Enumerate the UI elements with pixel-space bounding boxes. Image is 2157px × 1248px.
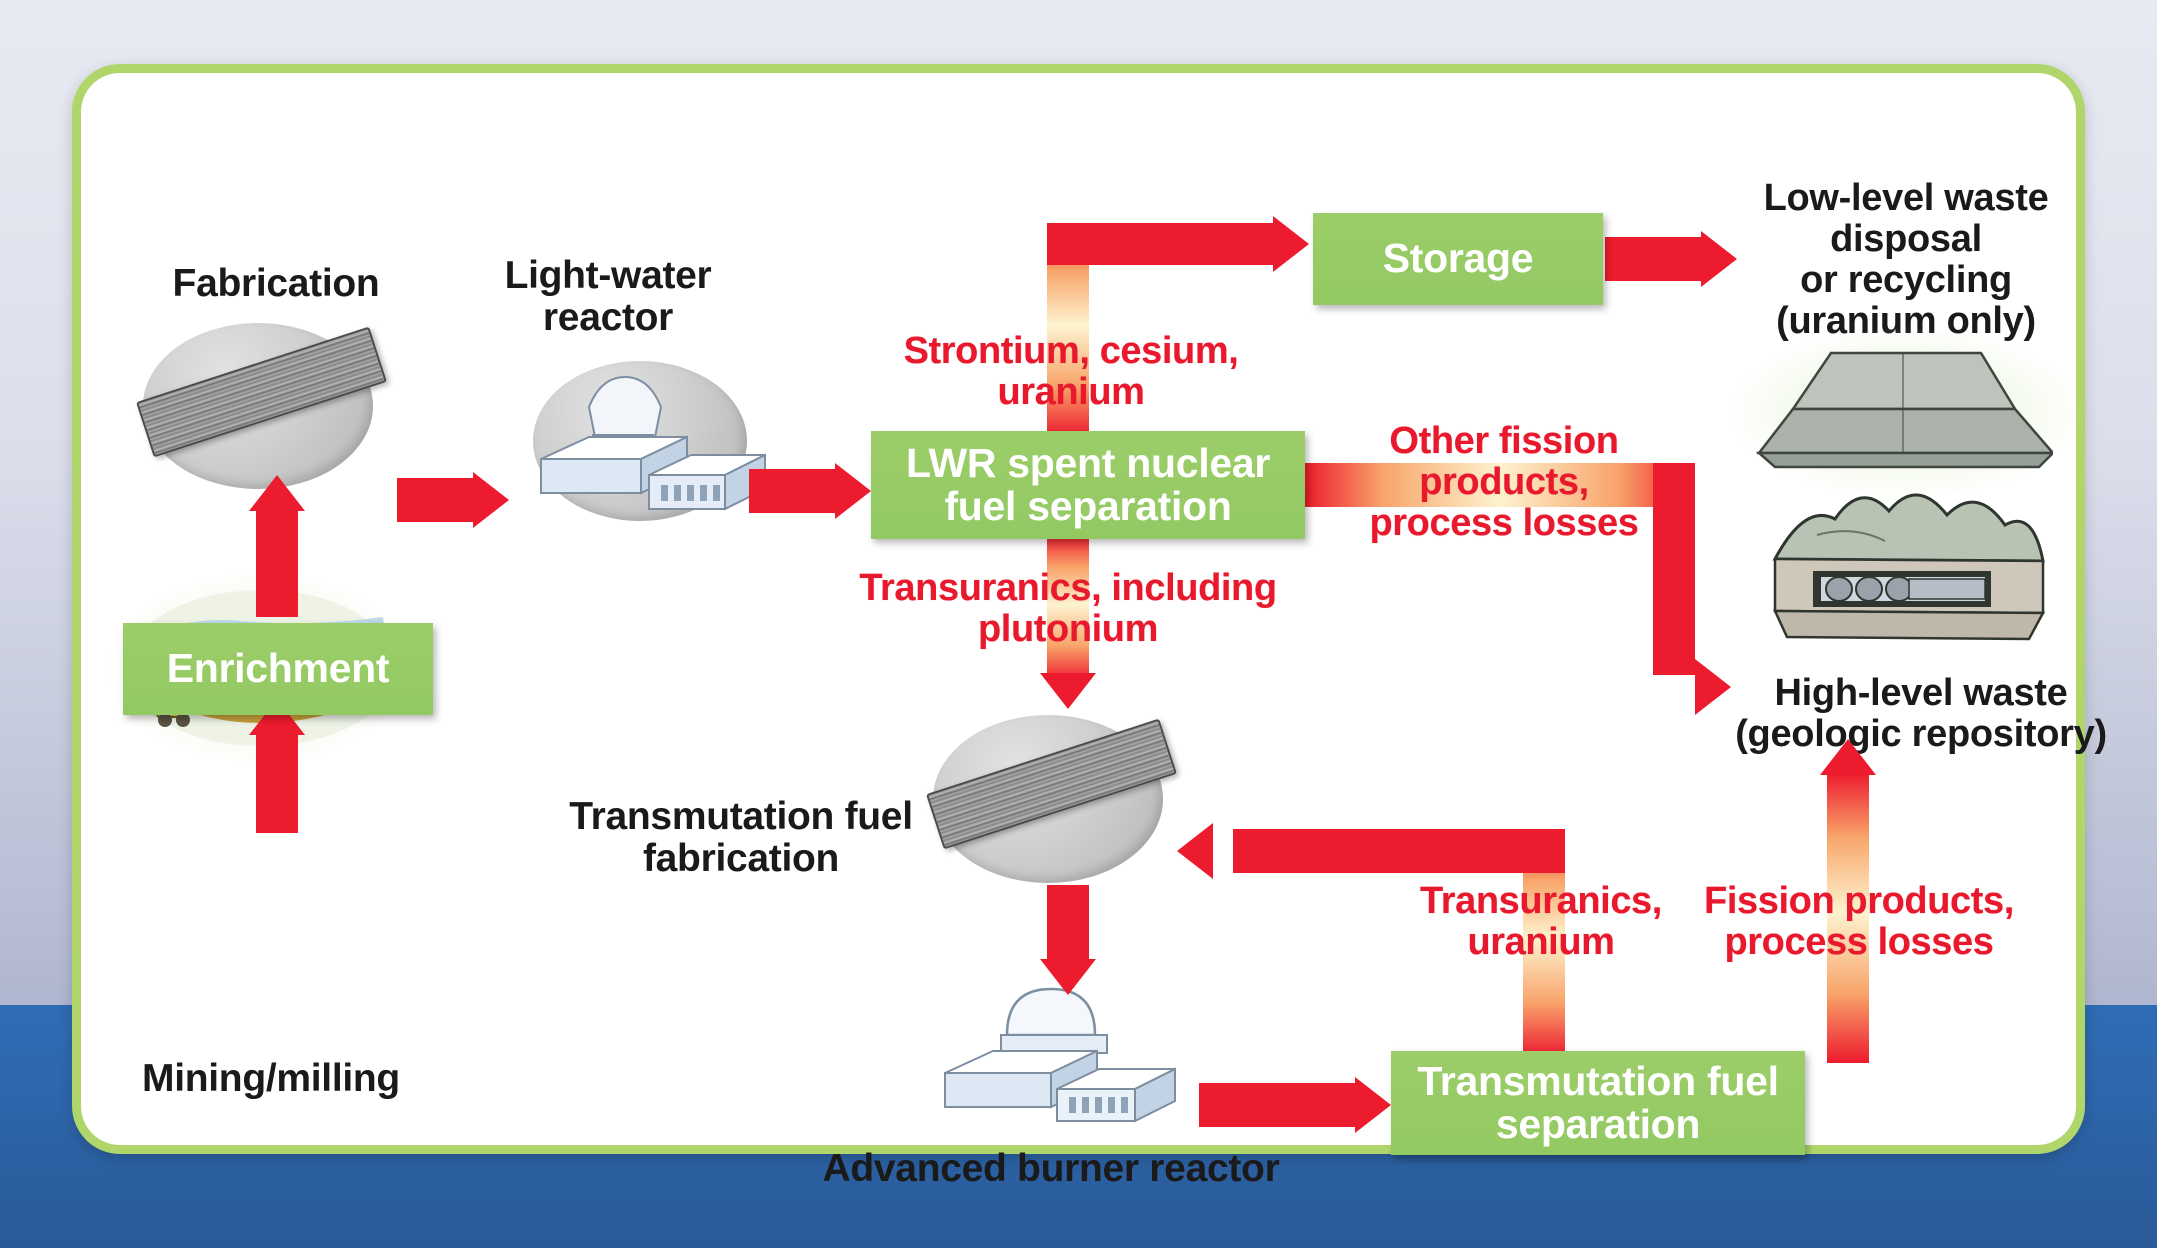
box-lwr-separation[interactable]: LWR spent nuclear fuel separation	[871, 431, 1305, 539]
arrow-burner-to-transmutation-separation-shaft	[1199, 1083, 1359, 1127]
advanced-burner-reactor-illustration	[931, 973, 1211, 1133]
high-level-waste-repository-illustration	[1757, 463, 2057, 653]
arrow-separation-to-storage-head	[1273, 216, 1309, 272]
arrow-storage-to-llw-shaft	[1605, 237, 1705, 281]
arrow-enrichment-to-fabrication-shaft	[256, 509, 298, 617]
arrow-fabrication-to-lwr-head	[473, 472, 509, 528]
arrow-fabrication-to-burner-head	[1040, 959, 1096, 995]
light-water-reactor-illustration	[521, 363, 771, 523]
label-transuranics-plutonium: Transuranics, including plutonium	[833, 568, 1303, 650]
diagram-stage: Mining/milling Enrichment Fabrication Li…	[81, 73, 2076, 1145]
arrow-enrichment-to-fabrication-head	[249, 475, 305, 511]
diagram-card: Mining/milling Enrichment Fabrication Li…	[72, 64, 2085, 1154]
arrow-storage-to-llw-head	[1701, 231, 1737, 287]
arrow-separation-to-hlw-head	[1695, 659, 1731, 715]
arrow-transmutation-to-hlw-head	[1820, 739, 1876, 775]
label-fabrication: Fabrication	[111, 263, 441, 305]
label-other-fission-products: Other fission products, process losses	[1339, 421, 1669, 544]
arrow-recycle-head	[1177, 823, 1213, 879]
label-high-level-waste: High-level waste (geologic repository)	[1721, 673, 2121, 755]
arrow-fabrication-to-burner-shaft	[1047, 885, 1089, 967]
arrow-mining-to-enrichment-shaft	[256, 733, 298, 833]
label-light-water-reactor: Light-water reactor	[453, 255, 763, 339]
box-enrichment[interactable]: Enrichment	[123, 623, 433, 715]
arrow-burner-to-transmutation-separation-head	[1355, 1077, 1391, 1133]
label-low-level-waste: Low-level waste disposal or recycling (u…	[1731, 178, 2081, 342]
box-storage[interactable]: Storage	[1313, 213, 1603, 305]
label-strontium-cesium-uranium: Strontium, cesium, uranium	[881, 331, 1261, 413]
arrow-lwr-to-separation-shaft	[749, 469, 837, 513]
label-fission-products-losses: Fission products, process losses	[1659, 881, 2059, 963]
label-transmutation-fabrication: Transmutation fuel fabrication	[541, 796, 941, 880]
arrow-separation-to-fabrication-head	[1040, 673, 1096, 709]
box-transmutation-separation[interactable]: Transmutation fuel separation	[1391, 1051, 1805, 1155]
label-mining-milling: Mining/milling	[101, 1058, 441, 1100]
arrow-recycle-shaft-horizontal	[1233, 829, 1565, 873]
arrow-separation-to-storage-elbow	[1047, 223, 1277, 265]
arrow-lwr-to-separation-head	[835, 463, 871, 519]
arrow-fabrication-to-lwr-shaft	[397, 478, 475, 522]
label-advanced-burner-reactor: Advanced burner reactor	[811, 1148, 1291, 1190]
